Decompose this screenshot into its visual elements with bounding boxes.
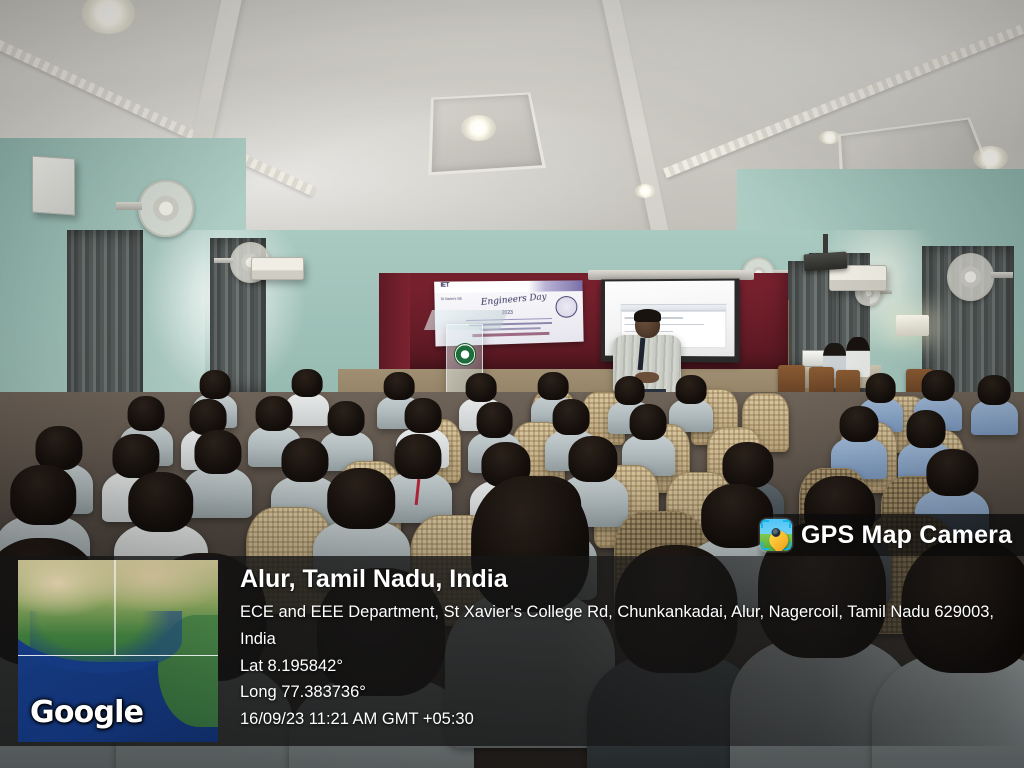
gps-map-camera-label: GPS Map Camera xyxy=(801,521,1012,550)
gps-map-pin-camera-icon xyxy=(760,519,792,551)
gps-map-camera-badge: GPS Map Camera xyxy=(756,514,1024,556)
gps-info-panel: Google Alur, Tamil Nadu, India ECE and E… xyxy=(0,556,1024,746)
gps-text-block: Alur, Tamil Nadu, India ECE and EEE Depa… xyxy=(240,564,1010,733)
gps-latitude: Lat 8.195842° xyxy=(240,653,1010,680)
gps-longitude: Long 77.383736° xyxy=(240,679,1010,706)
map-thumbnail: Google xyxy=(18,560,218,742)
google-logo: Google xyxy=(30,695,143,730)
gps-timestamp: 16/09/23 11:21 AM GMT +05:30 xyxy=(240,706,1010,733)
gps-place-name: Alur, Tamil Nadu, India xyxy=(240,564,1010,595)
gps-address: ECE and EEE Department, St Xavier's Coll… xyxy=(240,599,1010,652)
map-crosshair-vertical xyxy=(114,560,116,655)
map-crosshair-horizontal xyxy=(18,655,218,657)
screenshot-root: IET St Xavier's SB Engineers Day 2023 xyxy=(0,0,1024,768)
